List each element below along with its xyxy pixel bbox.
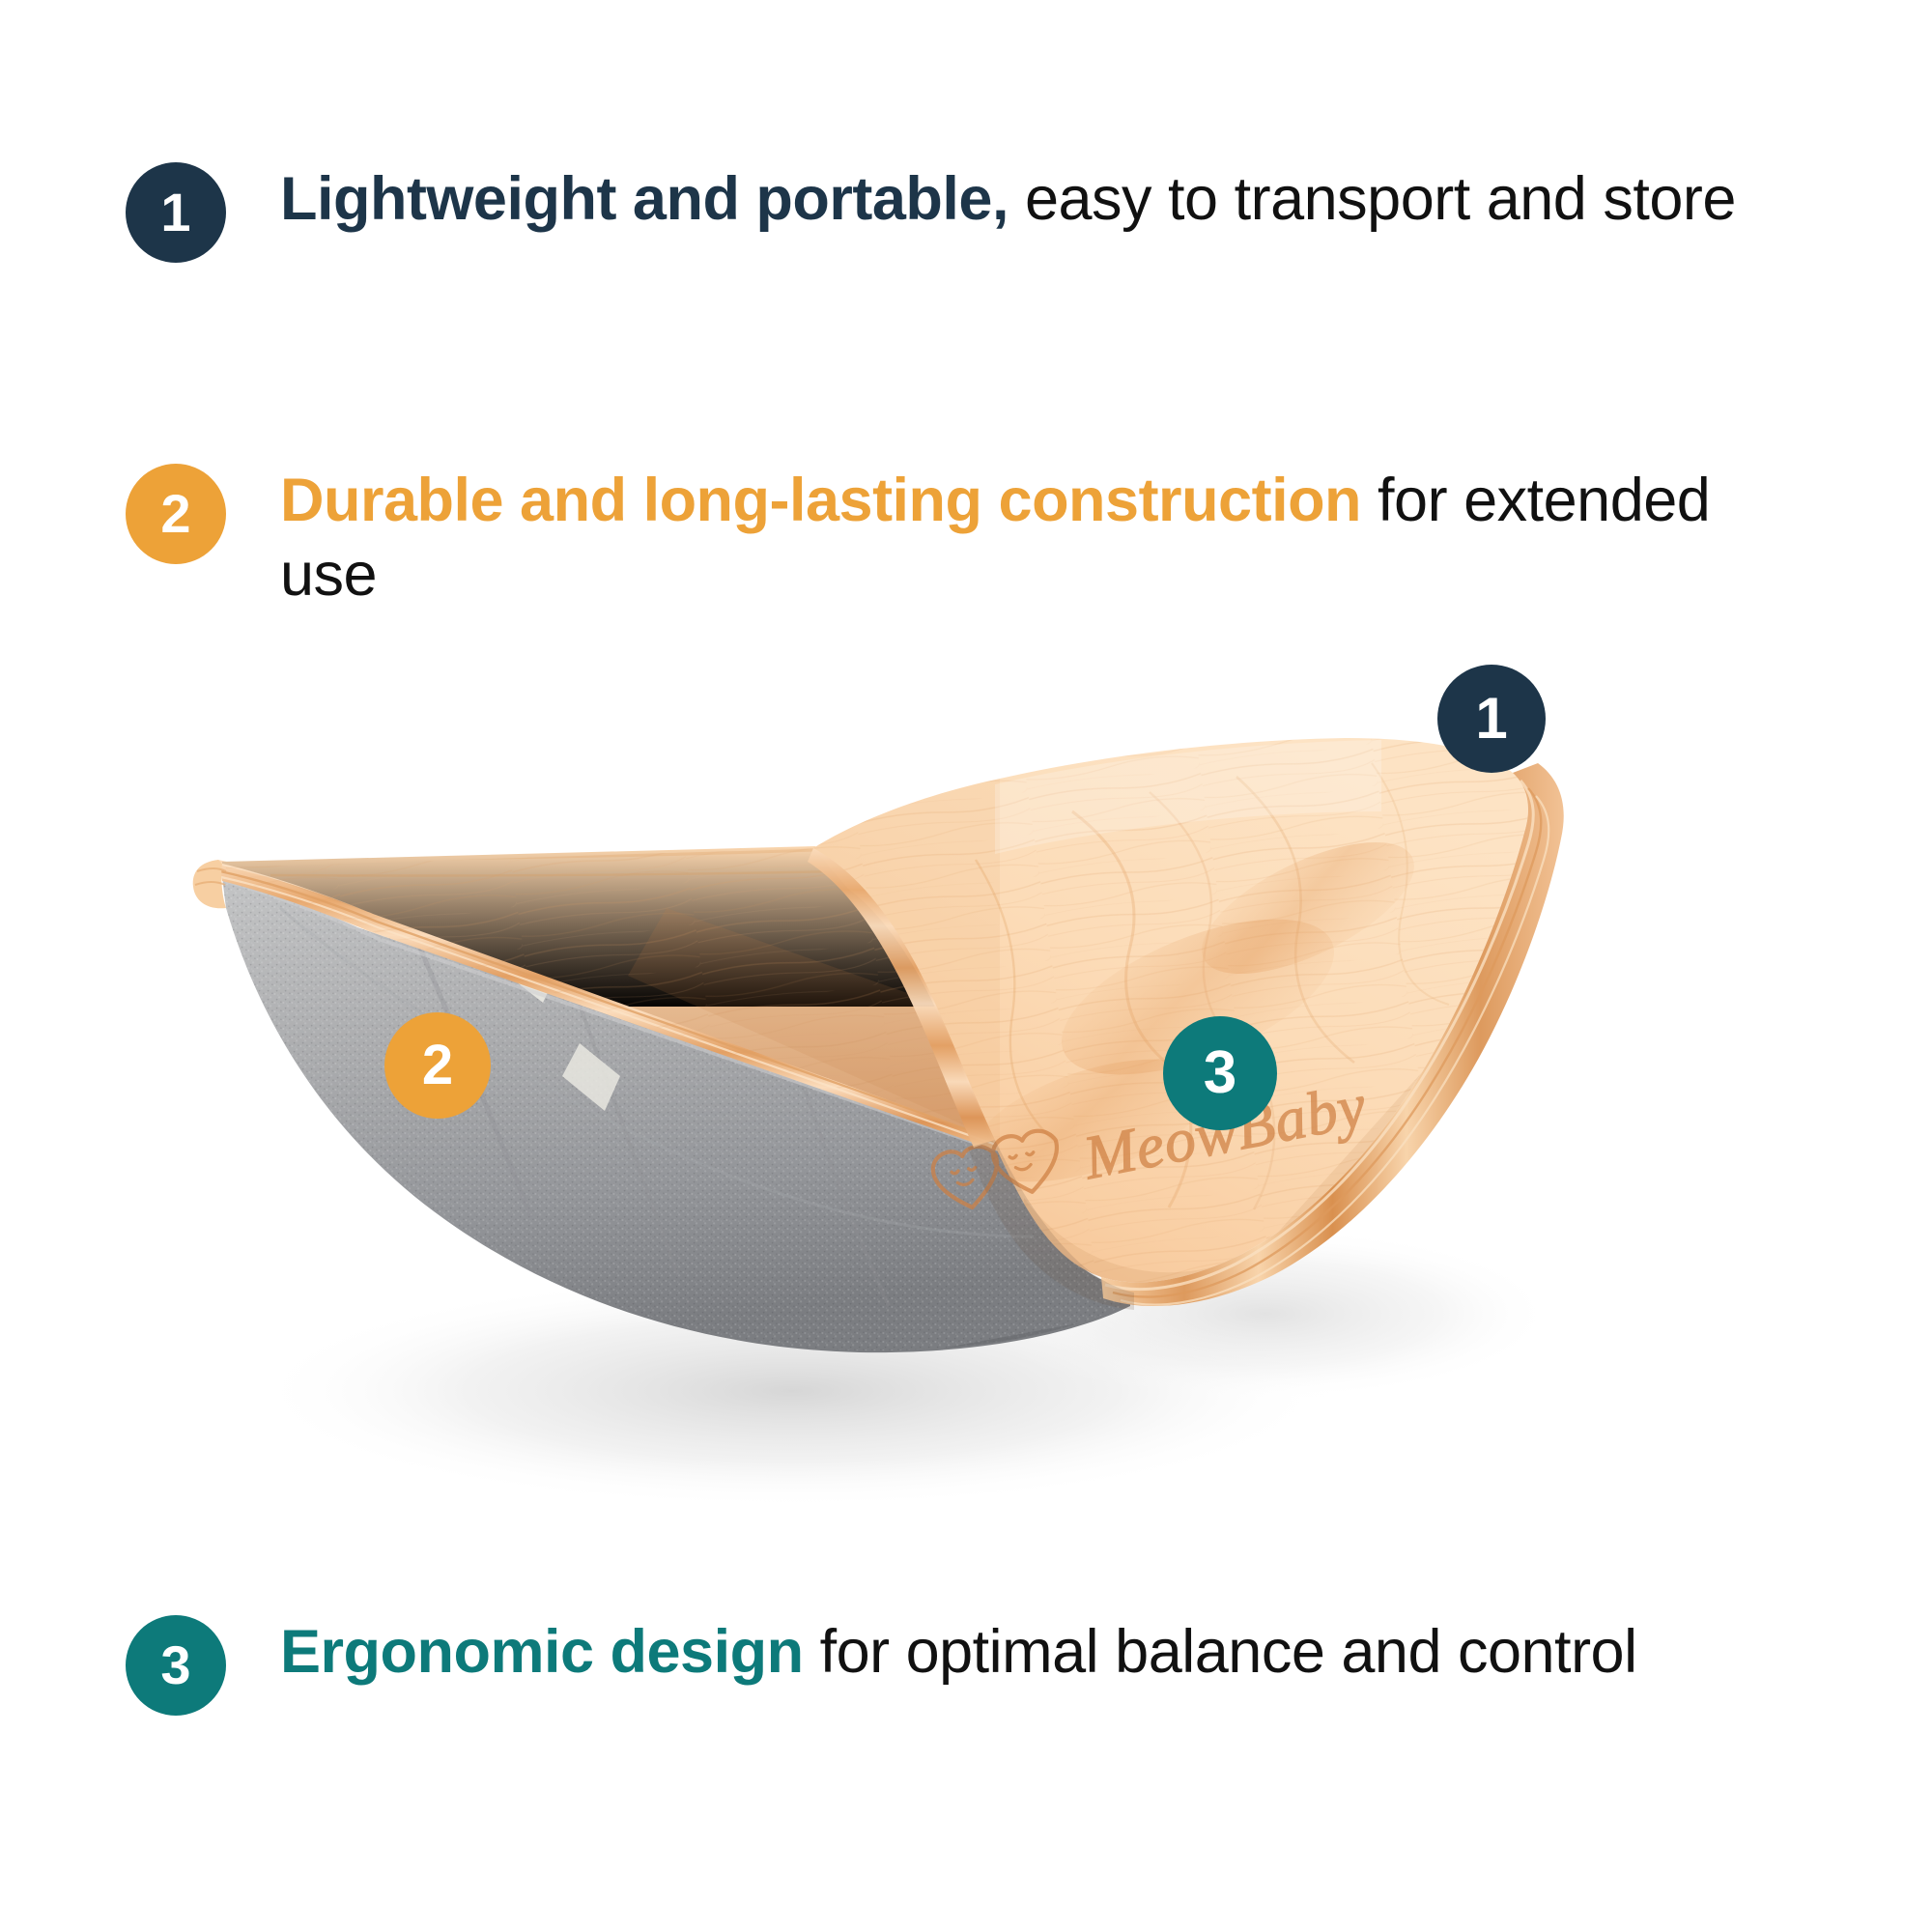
feature-badge-3: 3 <box>126 1615 226 1716</box>
callout-badge-2: 2 <box>384 1012 491 1119</box>
callout-badge-1: 1 <box>1437 665 1546 773</box>
callout-badge-3: 3 <box>1163 1016 1277 1130</box>
feature-text-3: Ergonomic design for optimal balance and… <box>226 1615 1637 1690</box>
feature-item-2: 2 Durable and long-lasting construction … <box>126 464 1810 612</box>
feature-badge-2: 2 <box>126 464 226 564</box>
feature-headline-1: Lightweight and portable, <box>280 165 1009 233</box>
feature-subtext-1: easy to transport and store <box>1009 165 1736 233</box>
feature-headline-3: Ergonomic design <box>280 1618 804 1686</box>
feature-item-3: 3 Ergonomic design for optimal balance a… <box>126 1615 1637 1716</box>
infographic-canvas: 1 Lightweight and portable, easy to tran… <box>0 0 1932 1932</box>
feature-headline-2: Durable and long-lasting construction <box>280 467 1361 534</box>
feature-text-1: Lightweight and portable, easy to transp… <box>226 162 1736 237</box>
feature-subtext-3: for optimal balance and control <box>804 1618 1637 1686</box>
feature-badge-1: 1 <box>126 162 226 263</box>
feature-text-2: Durable and long-lasting construction fo… <box>226 464 1810 612</box>
product-photo-balance-board: MeowBaby <box>126 618 1826 1584</box>
feature-item-1: 1 Lightweight and portable, easy to tran… <box>126 162 1736 263</box>
